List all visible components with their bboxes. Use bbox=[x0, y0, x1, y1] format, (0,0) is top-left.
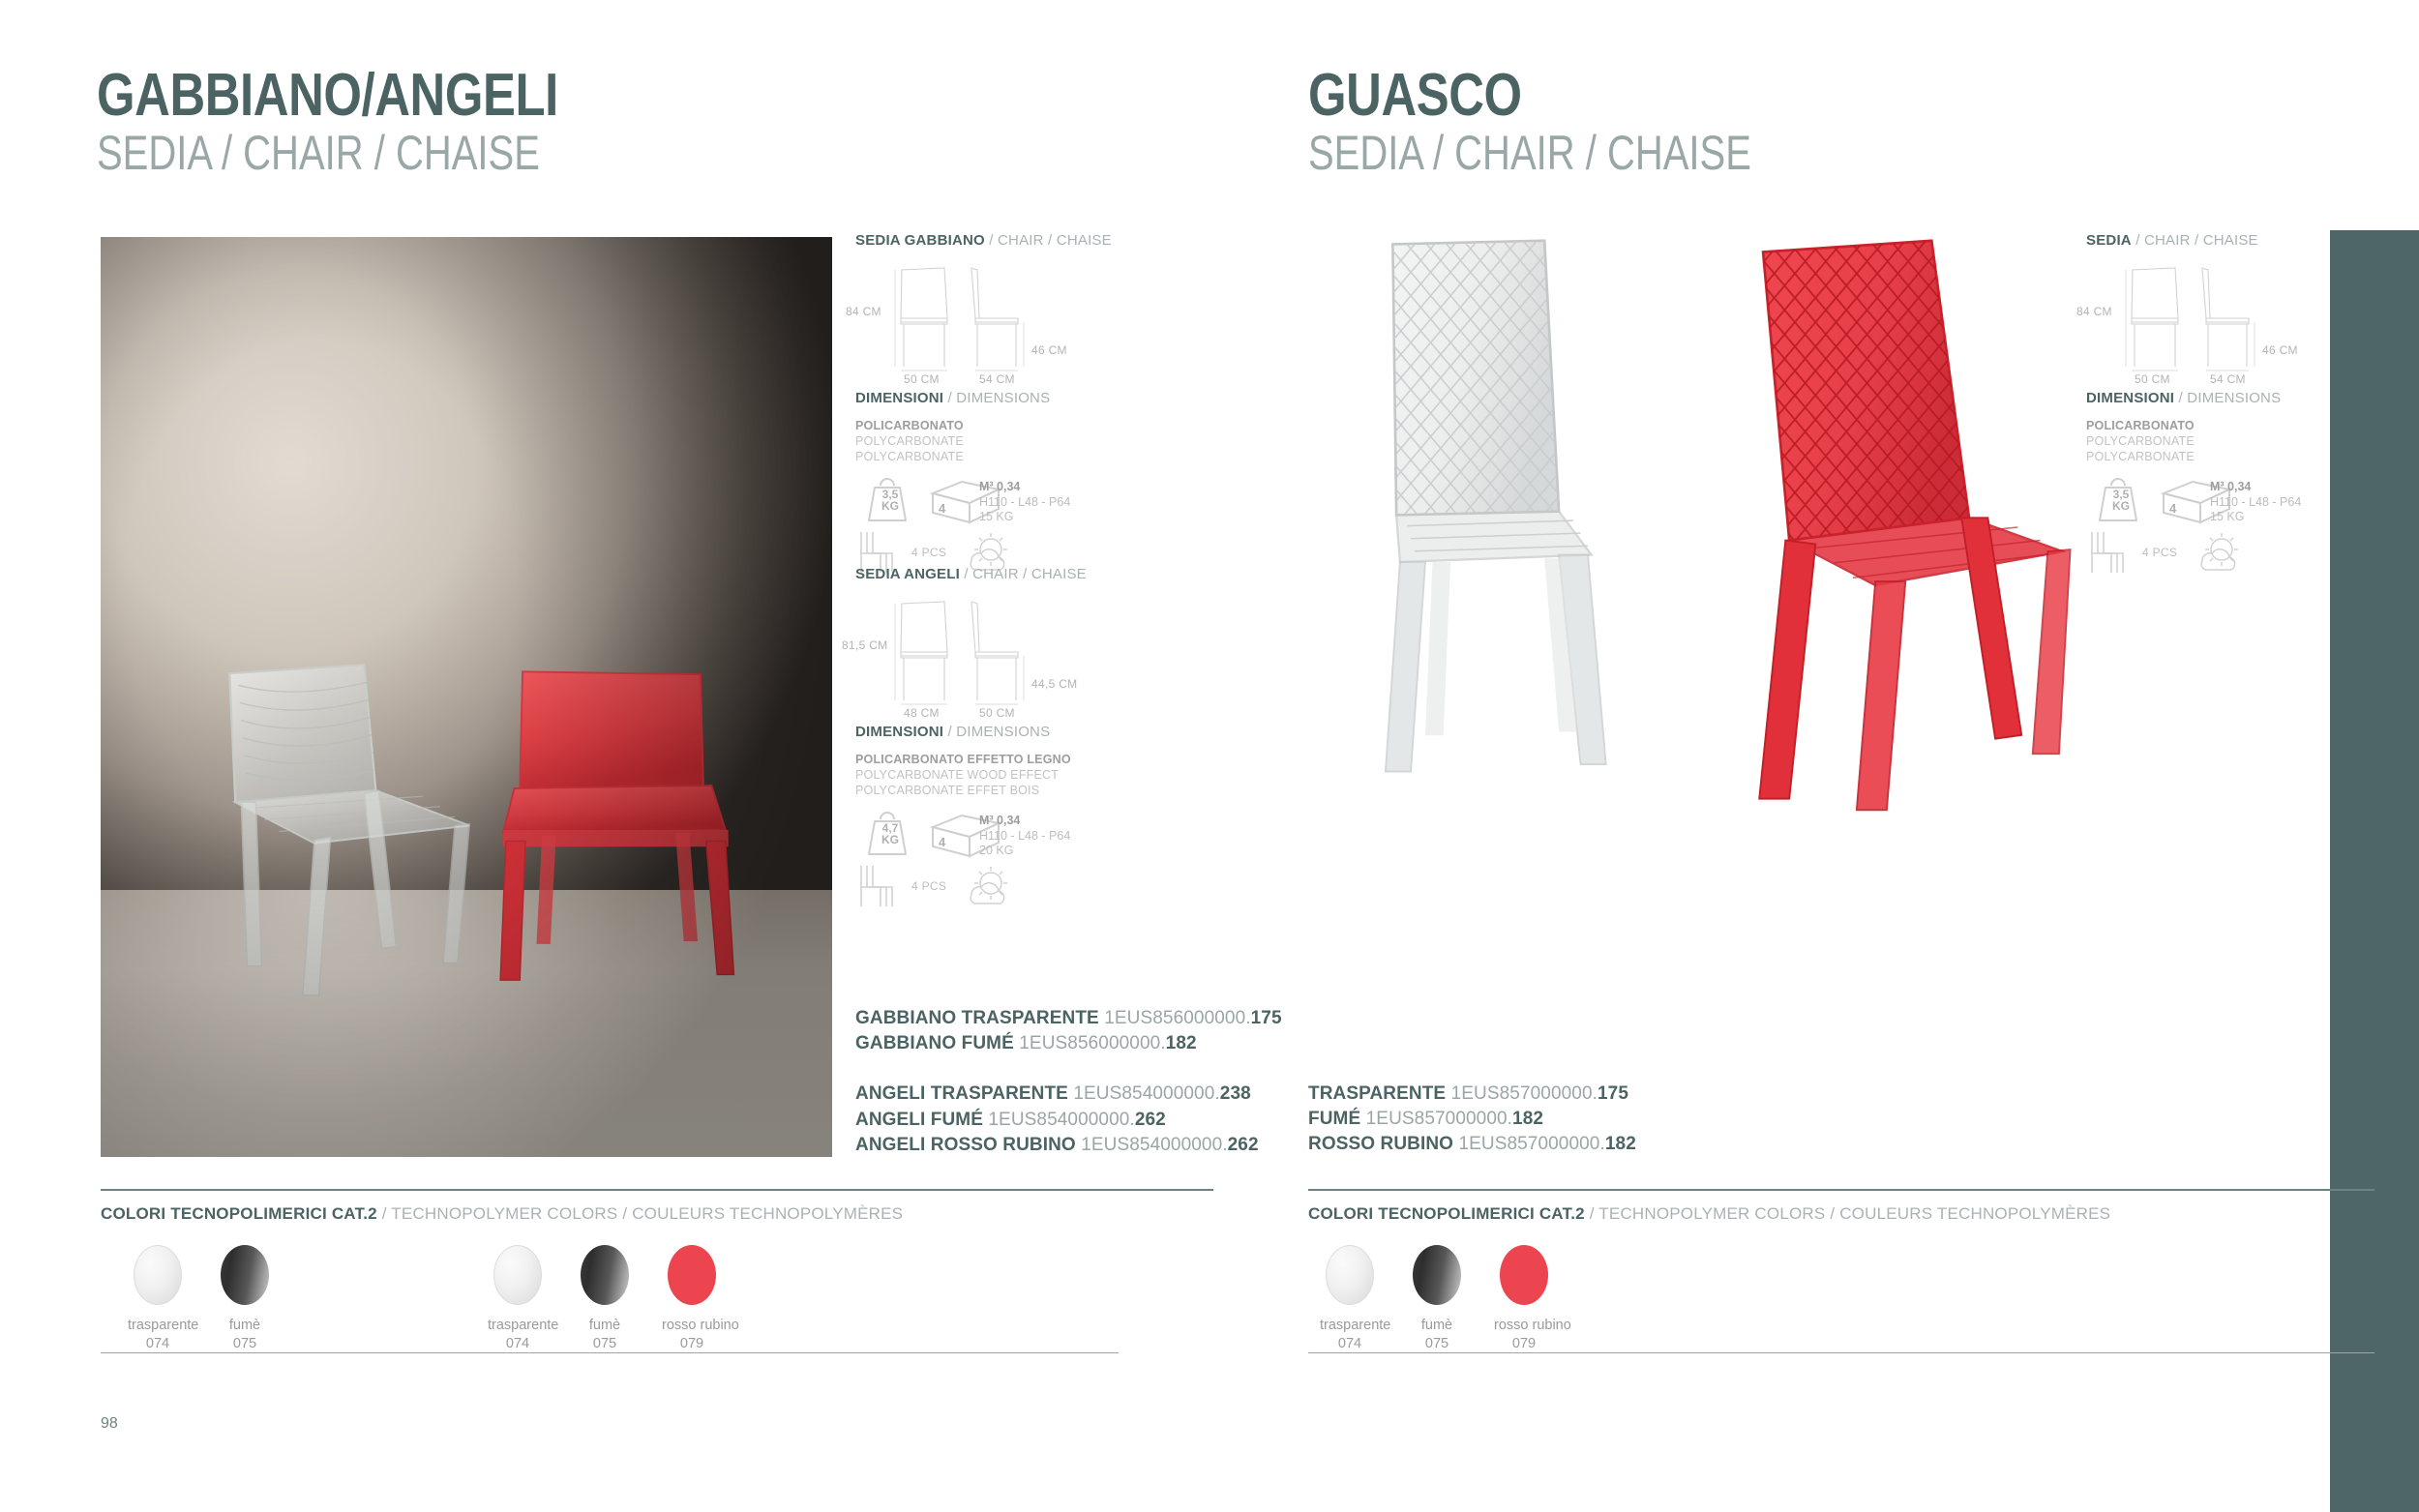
box-dimensions: H110 - L48 - P64 bbox=[2210, 495, 2301, 511]
dimensions-title-bold: DIMENSIONI bbox=[855, 390, 943, 406]
swatch-code: 074 bbox=[488, 1335, 548, 1353]
spec-heading-bold: SEDIA GABBIANO bbox=[855, 232, 985, 249]
price-row: TRASPARENTE 1EUS857000000.175 bbox=[1308, 1082, 1636, 1107]
colors-title-light: / TECHNOPOLYMER COLORS / COULEURS TECHNO… bbox=[1585, 1204, 2110, 1223]
price-code: 1EUS857000000. bbox=[1366, 1109, 1512, 1129]
page-title: GUASCO bbox=[1308, 68, 1762, 125]
box-quantity: 4 bbox=[939, 501, 945, 516]
colors-section-right: COLORI TECNOPOLIMERICI CAT.2 / TECHNOPOL… bbox=[1308, 1204, 2373, 1366]
swatch-code: 074 bbox=[128, 1335, 188, 1353]
dimension-figure-gabbiano: 84 CM 46 CM 50 CM 54 CM bbox=[855, 258, 1097, 384]
swatch-group-guasco: trasparente 074 fumè 075 rosso rubino 07… bbox=[1320, 1245, 1554, 1352]
material-fr: POLYCARBONATE EFFET BOIS bbox=[855, 783, 1146, 798]
colors-section-left: COLORI TECNOPOLIMERICI CAT.2 / TECHNOPOL… bbox=[101, 1204, 1213, 1366]
page-subtitle: SEDIA / CHAIR / CHAISE bbox=[1308, 129, 1751, 177]
box-quantity: 4 bbox=[2169, 501, 2176, 516]
section-divider-bottom bbox=[101, 1352, 1119, 1353]
swatch-groups: trasparente 074 fumè 075 rosso rubino 07… bbox=[1308, 1245, 2373, 1366]
color-swatch[interactable]: fumè 075 bbox=[575, 1245, 635, 1352]
chair-dimension-drawing bbox=[855, 258, 1097, 384]
price-value: 182 bbox=[1605, 1134, 1636, 1154]
price-name: ROSSO RUBINO bbox=[1308, 1134, 1453, 1154]
swatch-name: fumè bbox=[1407, 1317, 1467, 1335]
photo-vignette bbox=[101, 237, 832, 1157]
stackable-chairs-icon bbox=[2086, 530, 2136, 575]
dimensions-title-light: / DIMENSIONS bbox=[943, 390, 1050, 406]
price-value: 262 bbox=[1135, 1110, 1166, 1130]
chair-dimension-drawing bbox=[2086, 258, 2328, 384]
weight-value: 4,7 KG bbox=[869, 822, 911, 845]
color-swatch[interactable]: trasparente 074 bbox=[1320, 1245, 1380, 1352]
box-volume: M³ 0,34 bbox=[979, 814, 1070, 829]
right-page-header: GUASCO SEDIA / CHAIR / CHAISE bbox=[1308, 68, 1862, 177]
stack-count: 4 PCS bbox=[911, 546, 946, 559]
swatch-name: trasparente bbox=[1320, 1317, 1380, 1335]
spec-block-guasco: SEDIA / CHAIR / CHAISE bbox=[2086, 232, 2376, 575]
price-code: 1EUS854000000. bbox=[988, 1110, 1134, 1130]
weight-unit: KG bbox=[881, 499, 899, 513]
outdoor-weather-icon bbox=[962, 864, 1018, 908]
box-weight: 15 KG bbox=[2210, 510, 2301, 525]
dim-depth-label: 54 CM bbox=[2210, 372, 2246, 386]
box-weight: 15 KG bbox=[979, 510, 1070, 525]
material-en: POLYCARBONATE bbox=[2086, 433, 2376, 449]
page-subtitle: SEDIA / CHAIR / CHAISE bbox=[97, 129, 547, 177]
swatch-name: fumè bbox=[575, 1317, 635, 1335]
spec-icons-row-2: 4 PCS bbox=[855, 864, 1146, 908]
swatch-dot-rosso-rubino bbox=[668, 1245, 716, 1305]
dimension-figure-angeli: 81,5 CM 44,5 CM 48 CM 50 CM bbox=[855, 592, 1097, 718]
price-code: 1EUS856000000. bbox=[1019, 1033, 1165, 1053]
swatch-name: trasparente bbox=[488, 1317, 548, 1335]
dim-seat-height-label: 46 CM bbox=[1031, 343, 1067, 357]
color-swatch[interactable]: fumè 075 bbox=[1407, 1245, 1467, 1352]
swatch-dot-fume bbox=[221, 1245, 269, 1305]
box-weight: 20 KG bbox=[979, 844, 1070, 859]
spec-heading: SEDIA GABBIANO / CHAIR / CHAISE bbox=[855, 232, 1146, 249]
material-fr: POLYCARBONATE bbox=[2086, 449, 2376, 464]
section-divider-top bbox=[1308, 1189, 2374, 1191]
price-row: FUMÉ 1EUS857000000.182 bbox=[1308, 1107, 1636, 1132]
swatch-dot-fume bbox=[1413, 1245, 1461, 1305]
material-block: POLICARBONATO POLYCARBONATE POLYCARBONAT… bbox=[2086, 418, 2376, 464]
price-code: 1EUS857000000. bbox=[1451, 1083, 1598, 1104]
dimensions-title: DIMENSIONI / DIMENSIONS bbox=[855, 724, 1146, 740]
colors-title-light: / TECHNOPOLYMER COLORS / COULEURS TECHNO… bbox=[377, 1204, 903, 1223]
weight-unit: KG bbox=[881, 833, 899, 846]
swatch-dot-fume bbox=[581, 1245, 629, 1305]
price-value: 182 bbox=[1512, 1109, 1543, 1129]
swatch-dot-trasparente bbox=[493, 1245, 542, 1305]
dimensions-title: DIMENSIONI / DIMENSIONS bbox=[855, 390, 1146, 406]
swatch-group-gabbiano: trasparente 074 fumè 075 bbox=[128, 1245, 275, 1352]
dim-width-label: 50 CM bbox=[2135, 372, 2170, 386]
swatch-name: trasparente bbox=[128, 1317, 188, 1335]
box-dimensions: H110 - L48 - P64 bbox=[979, 495, 1070, 511]
stackable-chairs-icon bbox=[855, 864, 906, 908]
box-text: M³ 0,34 H110 - L48 - P64 20 KG bbox=[979, 814, 1070, 859]
color-swatch[interactable]: trasparente 074 bbox=[488, 1245, 548, 1352]
box-volume: M³ 0,34 bbox=[2210, 480, 2301, 495]
box-quantity: 4 bbox=[939, 835, 945, 849]
price-value: 182 bbox=[1166, 1033, 1197, 1053]
spec-heading-light: / CHAIR / CHAISE bbox=[2132, 232, 2258, 249]
dim-depth-label: 54 CM bbox=[979, 372, 1015, 386]
dim-height-label: 84 CM bbox=[846, 305, 881, 318]
price-name: ANGELI ROSSO RUBINO bbox=[855, 1135, 1076, 1155]
box-dimensions: H110 - L48 - P64 bbox=[979, 829, 1070, 845]
spec-block-angeli: SEDIA ANGELI / CHAIR / CHAISE bbox=[855, 566, 1146, 908]
price-name: FUMÉ bbox=[1308, 1109, 1360, 1129]
dimensions-title-light: / DIMENSIONS bbox=[943, 724, 1050, 740]
material-it: POLICARBONATO bbox=[855, 418, 1146, 433]
weight-value: 3,5 KG bbox=[869, 489, 911, 512]
dim-height-label: 81,5 CM bbox=[842, 638, 887, 652]
color-swatch[interactable]: trasparente 074 bbox=[128, 1245, 188, 1352]
material-block: POLICARBONATO POLYCARBONATE POLYCARBONAT… bbox=[855, 418, 1146, 464]
swatch-name: rosso rubino bbox=[662, 1317, 722, 1335]
dimensions-title-bold: DIMENSIONI bbox=[2086, 390, 2174, 406]
swatch-groups: trasparente 074 fumè 075 trasparente 074 bbox=[101, 1245, 1213, 1366]
spec-heading-light: / CHAIR / CHAISE bbox=[960, 566, 1087, 582]
colors-title-bold: COLORI TECNOPOLIMERICI CAT.2 bbox=[101, 1204, 377, 1223]
price-list-right: TRASPARENTE 1EUS857000000.175 FUMÉ 1EUS8… bbox=[1308, 1082, 1636, 1158]
page-number: 99 bbox=[2293, 1415, 2311, 1433]
material-en: POLYCARBONATE WOOD EFFECT bbox=[855, 767, 1146, 783]
swatch-code: 079 bbox=[662, 1335, 722, 1353]
color-swatch[interactable]: rosso rubino 079 bbox=[1494, 1245, 1554, 1352]
swatch-code: 079 bbox=[1494, 1335, 1554, 1353]
dimension-figure-guasco: 84 CM 46 CM 50 CM 54 CM bbox=[2086, 258, 2328, 384]
swatch-dot-trasparente bbox=[1326, 1245, 1374, 1305]
page-title: GABBIANO/ANGELI bbox=[97, 68, 558, 125]
material-it: POLICARBONATO EFFETTO LEGNO bbox=[855, 752, 1146, 767]
spec-heading: SEDIA / CHAIR / CHAISE bbox=[2086, 232, 2376, 249]
left-page-header: GABBIANO/ANGELI SEDIA / CHAIR / CHAISE bbox=[97, 68, 660, 177]
price-name: TRASPARENTE bbox=[1308, 1083, 1446, 1104]
spec-icons-row-1: 4,7 KG 4 M³ 0,34 H110 - L48 - P64 20 KG bbox=[855, 812, 1146, 858]
dim-seat-height-label: 44,5 CM bbox=[1031, 677, 1077, 691]
price-code: 1EUS857000000. bbox=[1458, 1134, 1604, 1154]
color-swatch[interactable]: fumè 075 bbox=[215, 1245, 275, 1352]
price-code: 1EUS854000000. bbox=[1081, 1135, 1227, 1155]
price-name: ANGELI FUMÉ bbox=[855, 1110, 983, 1130]
price-row: ROSSO RUBINO 1EUS857000000.182 bbox=[1308, 1132, 1636, 1157]
outdoor-weather-icon bbox=[2193, 530, 2249, 575]
spec-icons-row-1: 3,5 KG 4 M³ 0,34 H110 - L48 - P64 15 KG bbox=[2086, 478, 2376, 524]
page-left: GABBIANO/ANGELI SEDIA / CHAIR / CHAISE bbox=[0, 0, 1209, 1512]
spec-heading: SEDIA ANGELI / CHAIR / CHAISE bbox=[855, 566, 1146, 582]
colors-title-bold: COLORI TECNOPOLIMERICI CAT.2 bbox=[1308, 1204, 1585, 1223]
swatch-dot-trasparente bbox=[134, 1245, 182, 1305]
chair-dimension-drawing bbox=[855, 592, 1097, 718]
swatch-code: 075 bbox=[215, 1335, 275, 1353]
swatch-code: 075 bbox=[575, 1335, 635, 1353]
price-name: ANGELI TRASPARENTE bbox=[855, 1083, 1068, 1104]
dim-height-label: 84 CM bbox=[2076, 305, 2112, 318]
box-text: M³ 0,34 H110 - L48 - P64 15 KG bbox=[2210, 480, 2301, 525]
material-en: POLYCARBONATE bbox=[855, 433, 1146, 449]
spec-icons-row-2: 4 PCS bbox=[2086, 530, 2376, 575]
spec-heading-bold: SEDIA ANGELI bbox=[855, 566, 960, 582]
swatch-code: 075 bbox=[1407, 1335, 1467, 1353]
lifestyle-photo bbox=[101, 237, 832, 1157]
colors-title: COLORI TECNOPOLIMERICI CAT.2 / TECHNOPOL… bbox=[101, 1204, 1213, 1224]
dimensions-title-bold: DIMENSIONI bbox=[855, 724, 943, 740]
dim-seat-height-label: 46 CM bbox=[2262, 343, 2298, 357]
swatch-group-angeli: trasparente 074 fumè 075 rosso rubino 07… bbox=[488, 1245, 722, 1352]
price-value: 175 bbox=[1598, 1083, 1628, 1104]
section-divider-top bbox=[101, 1189, 1213, 1191]
section-divider-bottom bbox=[1308, 1352, 2374, 1353]
swatch-name: fumè bbox=[215, 1317, 275, 1335]
catalog-spread: GABBIANO/ANGELI SEDIA / CHAIR / CHAISE bbox=[0, 0, 2419, 1512]
color-swatch[interactable]: rosso rubino 079 bbox=[662, 1245, 722, 1352]
material-it: POLICARBONATO bbox=[2086, 418, 2376, 433]
box-volume: M³ 0,34 bbox=[979, 480, 1070, 495]
price-name: GABBIANO FUMÉ bbox=[855, 1033, 1014, 1053]
stack-count: 4 PCS bbox=[911, 879, 946, 893]
product-photo-guasco-transparent bbox=[1364, 237, 1703, 779]
colors-title: COLORI TECNOPOLIMERICI CAT.2 / TECHNOPOL… bbox=[1308, 1204, 2373, 1224]
dimensions-title: DIMENSIONI / DIMENSIONS bbox=[2086, 390, 2376, 406]
product-photo-guasco-red bbox=[1727, 237, 2095, 817]
spec-heading-light: / CHAIR / CHAISE bbox=[985, 232, 1112, 249]
dim-depth-label: 50 CM bbox=[979, 706, 1015, 720]
weight-value: 3,5 KG bbox=[2100, 489, 2142, 512]
dim-width-label: 48 CM bbox=[904, 706, 940, 720]
price-code: 1EUS854000000. bbox=[1073, 1083, 1219, 1104]
stack-count: 4 PCS bbox=[2142, 546, 2177, 559]
spec-heading-bold: SEDIA bbox=[2086, 232, 2132, 249]
page-number: 98 bbox=[101, 1415, 118, 1433]
dim-width-label: 50 CM bbox=[904, 372, 940, 386]
price-name: GABBIANO TRASPARENTE bbox=[855, 1008, 1099, 1028]
spec-block-gabbiano: SEDIA GABBIANO / CHAIR / CHAISE bbox=[855, 232, 1146, 575]
swatch-code: 074 bbox=[1320, 1335, 1380, 1353]
box-text: M³ 0,34 H110 - L48 - P64 15 KG bbox=[979, 480, 1070, 525]
material-block: POLICARBONATO EFFETTO LEGNO POLYCARBONAT… bbox=[855, 752, 1146, 798]
swatch-name: rosso rubino bbox=[1494, 1317, 1554, 1335]
dimensions-title-light: / DIMENSIONS bbox=[2174, 390, 2281, 406]
material-fr: POLYCARBONATE bbox=[855, 449, 1146, 464]
spec-icons-row-1: 3,5 KG 4 M³ 0,34 H110 - L48 - P64 15 KG bbox=[855, 478, 1146, 524]
swatch-dot-rosso-rubino bbox=[1500, 1245, 1548, 1305]
weight-unit: KG bbox=[2112, 499, 2130, 513]
